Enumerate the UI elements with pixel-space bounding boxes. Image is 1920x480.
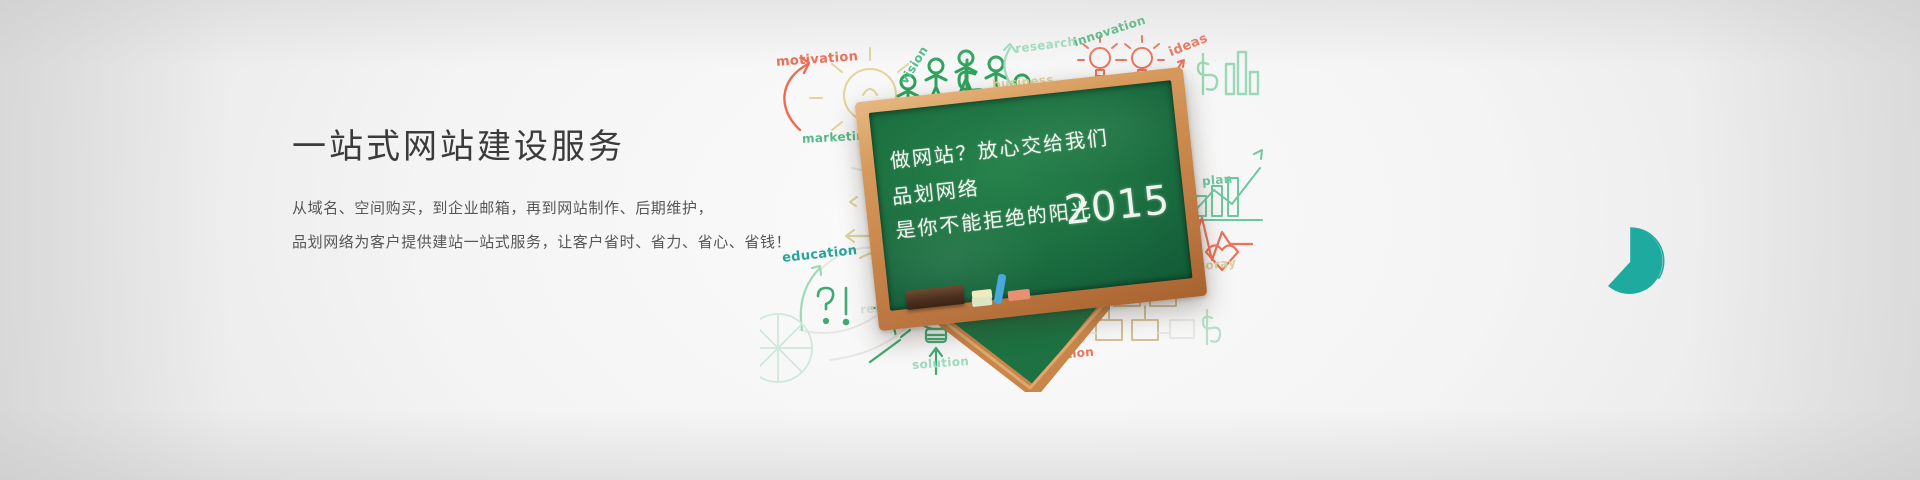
banner-subline-2: 品划网络为客户提供建站一站式服务，让客户省时、省力、省心、省钱！: [292, 226, 812, 260]
blackboard-surface: 做网站？放心交给我们 品划网络 是你不能拒绝的阳光 2015: [869, 80, 1193, 311]
banner-subline-1: 从域名、空间购买，到企业邮箱，再到网站制作、后期维护，: [292, 192, 812, 226]
banner-copy: 一站式网站建设服务 从域名、空间购买，到企业邮箱，再到网站制作、后期维护， 品划…: [292, 124, 812, 260]
doodle-word: plan: [1201, 172, 1233, 189]
blackboard-year: 2015: [1062, 177, 1172, 234]
pie-chart-icon: [1596, 226, 1666, 296]
blackboard-line-1: 做网站？放心交给我们: [888, 121, 1110, 174]
hero-banner: 一站式网站建设服务 从域名、空间购买，到企业邮箱，再到网站制作、后期维护， 品划…: [0, 0, 1920, 480]
page-title: 一站式网站建设服务: [292, 124, 812, 170]
blackboard-line-2: 品划网络: [890, 172, 981, 210]
